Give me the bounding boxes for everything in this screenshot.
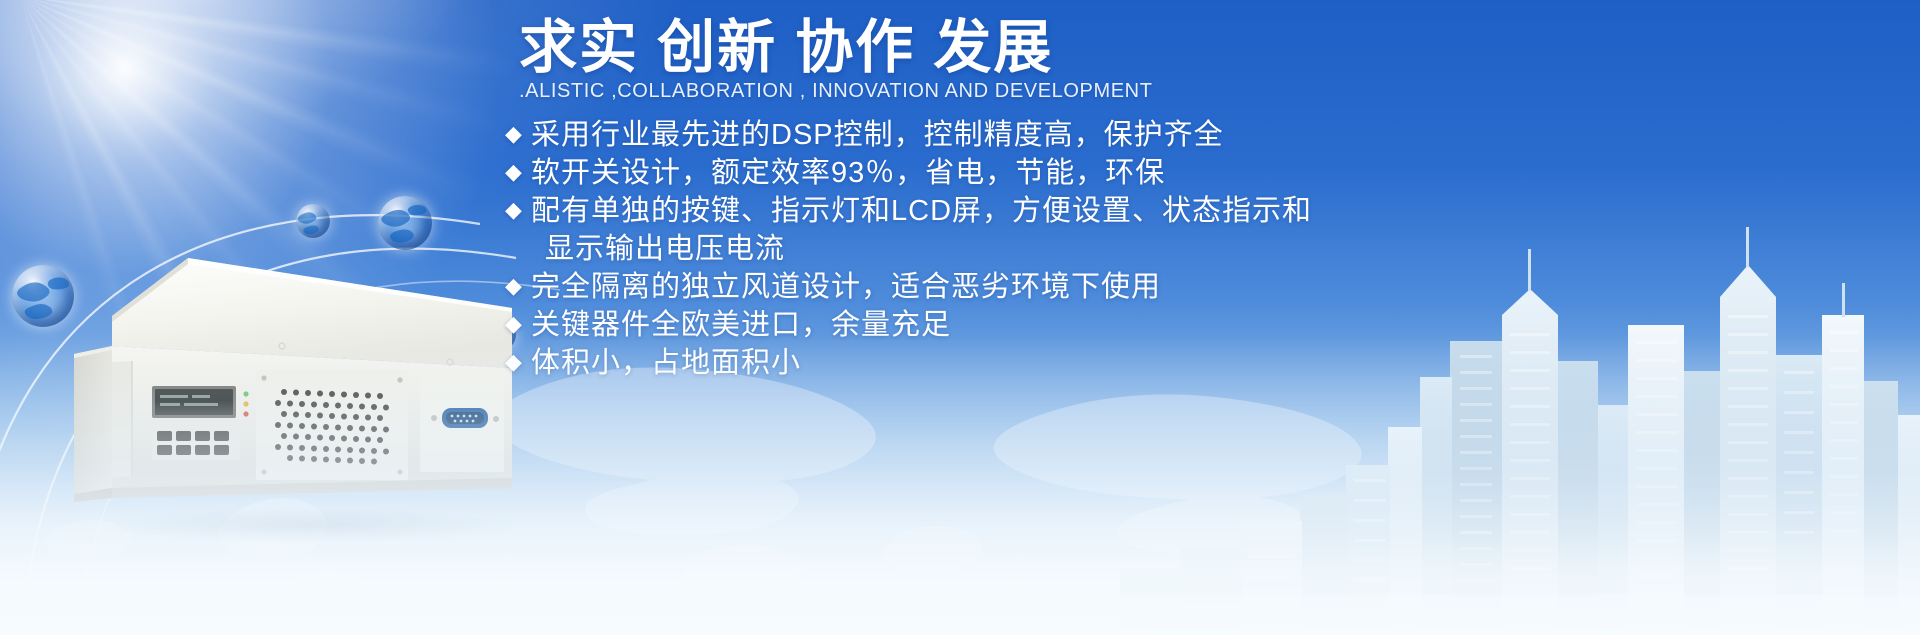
- diamond-bullet-icon: ◆: [505, 307, 531, 341]
- subheadline-english: .ALISTIC ,COLLABORATION , INNOVATION AND…: [519, 80, 1505, 103]
- list-item-label: 完全隔离的独立风道设计，适合恶劣环境下使用: [531, 269, 1161, 307]
- list-item-label: 配有单独的按键、指示灯和LCD屏，方便设置、状态指示和: [531, 193, 1312, 231]
- list-item: ◆软开关设计，额定效率93％，省电，节能，环保: [505, 155, 1505, 193]
- list-item: ◆完全隔离的独立风道设计，适合恶劣环境下使用: [505, 269, 1505, 307]
- list-item-label: 采用行业最先进的DSP控制，控制精度高，保护齐全: [531, 117, 1224, 155]
- globe-tiny-icon: [175, 417, 201, 443]
- diamond-bullet-icon: ◆: [505, 117, 531, 151]
- diamond-bullet-icon: ◆: [505, 155, 531, 189]
- list-item-label: 显示输出电压电流: [531, 231, 785, 269]
- list-item-continuation: 显示输出电压电流: [505, 231, 1505, 269]
- list-item: ◆配有单独的按键、指示灯和LCD屏，方便设置、状态指示和: [505, 193, 1505, 231]
- feature-list: ◆采用行业最先进的DSP控制，控制精度高，保护齐全 ◆软开关设计，额定效率93％…: [505, 117, 1505, 383]
- headline-slogan: 求实 创新 协作 发展: [519, 18, 1505, 78]
- list-item: ◆关键器件全欧美进口，余量充足: [505, 307, 1505, 345]
- globe-lower-icon: [296, 204, 330, 238]
- list-item-label: 体积小，占地面积小: [531, 345, 801, 383]
- diamond-bullet-icon: ◆: [505, 269, 531, 303]
- banner-root: 求实 创新 协作 发展 .ALISTIC ,COLLABORATION , IN…: [0, 0, 1920, 635]
- diamond-bullet-icon: ◆: [505, 345, 531, 379]
- globe-upper-icon: [378, 196, 432, 250]
- diamond-bullet-icon: ◆: [505, 193, 531, 227]
- list-item-label: 软开关设计，额定效率93％，省电，节能，环保: [531, 155, 1165, 193]
- banner-text-block: 求实 创新 协作 发展 .ALISTIC ,COLLABORATION , IN…: [505, 18, 1505, 383]
- list-item: ◆采用行业最先进的DSP控制，控制精度高，保护齐全: [505, 117, 1505, 155]
- globe-left-icon: [12, 265, 74, 327]
- list-item: ◆体积小，占地面积小: [505, 345, 1505, 383]
- list-item-label: 关键器件全欧美进口，余量充足: [531, 307, 951, 345]
